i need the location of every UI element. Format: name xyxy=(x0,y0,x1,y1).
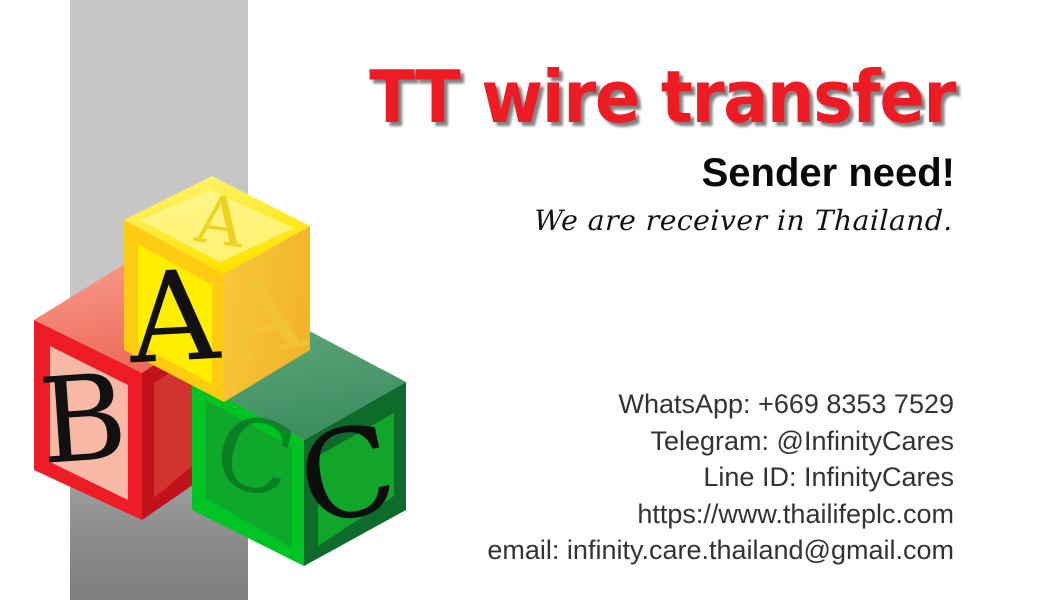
promotional-banner: B C C xyxy=(0,0,1063,600)
svg-text:A: A xyxy=(124,244,223,393)
contact-line-whatsapp: WhatsApp: +669 8353 7529 xyxy=(249,386,954,423)
text-content-column: TT wire transfer Sender need! We are rec… xyxy=(250,0,955,600)
contact-line-lineid: Line ID: InfinityCares xyxy=(249,459,954,496)
page-title: TT wire transfer xyxy=(299,58,955,136)
subtitle: Sender need! xyxy=(250,150,955,196)
contact-line-website[interactable]: https://www.thailifeplc.com xyxy=(249,496,954,533)
contact-line-telegram: Telegram: @InfinityCares xyxy=(249,423,954,460)
contact-details: WhatsApp: +669 8353 7529 Telegram: @Infi… xyxy=(249,386,954,569)
contact-line-email[interactable]: email: infinity.care.thailand@gmail.com xyxy=(249,532,954,569)
tagline: We are receiver in Thailand. xyxy=(247,203,953,239)
svg-text:B: B xyxy=(35,347,131,491)
